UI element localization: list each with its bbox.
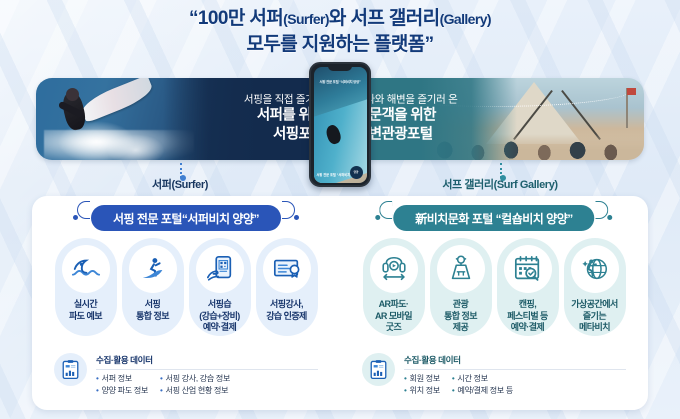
banner-surfer: 서핑을 직접 즐기는 서퍼를 위한 서핑포털 (36, 78, 338, 160)
data-item: 시간 정보 (452, 374, 513, 384)
panel-half-surfer: 서핑 전문 포털“서퍼비치 양양” 실시간 파도 예보 (32, 196, 340, 410)
pill-wrap-surfer: 서핑 전문 포털“서퍼비치 양양” (91, 205, 281, 231)
clipboard-chart-icon (362, 353, 395, 386)
data-column-2: 서핑 강사, 강습 정보 서핑 산업 현황 정보 (160, 374, 230, 396)
phone-notch (328, 65, 352, 71)
title-surfer-en: (Surfer) (283, 11, 329, 27)
data-column-2: 시간 정보 예약/결제 정보 등 (452, 374, 513, 396)
data-box-surfer: 수집·활용 데이터 서퍼 정보 양양 파도 정보 서핑 강사, 강습 정보 서핑… (54, 353, 318, 396)
wave-icon (62, 245, 110, 293)
feature-instructor-cert[interactable]: 서핑강사, 강습 인증제 (256, 238, 318, 336)
title-line-1: “100만 서퍼(Surfer)와 서프 갤러리(Gallery) (0, 6, 680, 32)
feature-camping-festival[interactable]: 캔핑, 페스티벌 등 예약·결제 (497, 238, 559, 336)
metaverse-icon (571, 245, 619, 293)
phone-badge: 양양 (350, 166, 363, 179)
clipboard-chart-icon (54, 353, 87, 386)
feature-label: 가상공간에서 즐기는 메타비치 (571, 299, 617, 334)
data-item: 양양 파도 정보 (96, 386, 148, 396)
title-part-a: “100만 서퍼 (189, 8, 283, 29)
bracket-dot-left (73, 215, 78, 220)
data-column-1: 서퍼 정보 양양 파도 정보 (96, 374, 148, 396)
data-item: 서핑 산업 현황 정보 (160, 386, 230, 396)
data-item: 예약/결제 정보 등 (452, 386, 513, 396)
surfer-head-shape (66, 88, 79, 101)
data-body: 수집·활용 데이터 회원 정보 위치 정보 시간 정보 예약/결제 정보 등 (404, 353, 626, 396)
feature-label: 캔핑, 페스티벌 등 예약·결제 (507, 299, 548, 334)
data-box-gallery: 수집·활용 데이터 회원 정보 위치 정보 시간 정보 예약/결제 정보 등 (362, 353, 626, 396)
bracket-left (77, 201, 90, 219)
group-caption-gallery: 서프 갤러리(Surf Gallery) (442, 176, 557, 192)
data-column-1: 회원 정보 위치 정보 (404, 374, 440, 396)
data-columns: 회원 정보 위치 정보 시간 정보 예약/결제 정보 등 (404, 374, 626, 396)
feature-label: 서핑 통합 정보 (136, 299, 169, 322)
surfer-icon (129, 245, 177, 293)
title-line-2: 모두를 지원하는 플랫폼” (0, 32, 680, 57)
bracket-dot-right (608, 215, 613, 220)
feature-capsules-surfer: 실시간 파도 예보 서핑 통합 정보 (32, 238, 340, 336)
data-item: 회원 정보 (404, 374, 440, 384)
feature-realtime-wave[interactable]: 실시간 파도 예보 (55, 238, 117, 336)
feature-capsules-gallery: AR파도· AR 모바일 굿즈 관광 통합 정보 제공 (340, 238, 648, 336)
content-panel: 서핑 전문 포털“서퍼비치 양양” 실시간 파도 예보 (32, 196, 648, 410)
data-title: 수집·활용 데이터 (404, 354, 626, 370)
ar-vr-headset-icon (370, 245, 418, 293)
page-title: “100만 서퍼(Surfer)와 서프 갤러리(Gallery) 모두를 지원… (0, 6, 680, 57)
phone-screen: 서핑 전문 포털 “서퍼비치 양양” 서핑 전문 포털 “서퍼비치 양양” 양양 (314, 67, 367, 183)
phone-mockup: 서핑 전문 포털 “서퍼비치 양양” 서핑 전문 포털 “서퍼비치 양양” 양양 (309, 62, 371, 187)
feature-label: 서핑습 (강습+장비) 예약·결제 (199, 299, 240, 334)
feature-surf-info[interactable]: 서핑 통합 정보 (122, 238, 184, 336)
banner-visitor-title-2: 해변관광포털 (356, 126, 457, 145)
flag-shape (627, 88, 636, 95)
pill-surf-portal[interactable]: 서핑 전문 포털“서퍼비치 양양” (91, 205, 281, 231)
surfboard-shape (79, 78, 156, 123)
pill-wrap-gallery: 新비치문화 포털 “컬숍비치 양양” (393, 205, 594, 231)
bracket-dot-left (375, 215, 380, 220)
data-body: 수집·활용 데이터 서퍼 정보 양양 파도 정보 서핑 강사, 강습 정보 서핑… (96, 353, 318, 396)
feature-ar-goods[interactable]: AR파도· AR 모바일 굿즈 (363, 238, 425, 336)
data-item: 위치 정보 (404, 386, 440, 396)
data-item: 서핑 강사, 강습 정보 (160, 374, 230, 384)
mobile-qr-icon (196, 245, 244, 293)
data-item: 서퍼 정보 (96, 374, 148, 384)
infographic-page: “100만 서퍼(Surfer)와 서프 갤러리(Gallery) 모두를 지원… (0, 0, 680, 419)
banner-visitor: 바다와 해변을 즐기러 온 방문객을 위한 해변관광포털 (342, 78, 644, 160)
phone-top-text: 서핑 전문 포털 “서퍼비치 양양” (314, 80, 367, 85)
feature-metaverse[interactable]: 가상공간에서 즐기는 메타비치 (564, 238, 626, 336)
feature-label: AR파도· AR 모바일 굿즈 (375, 299, 412, 334)
calendar-search-icon (504, 245, 552, 293)
bracket-left (379, 201, 392, 219)
group-caption-surfer: 서퍼(Surfer) (152, 176, 208, 192)
tour-map-icon (437, 245, 485, 293)
title-part-b: 와 서프 갤러리 (329, 8, 440, 29)
banner-visitor-text: 바다와 해변을 즐기러 온 방문객을 위한 해변관광포털 (356, 94, 457, 145)
feature-label: 관광 통합 정보 제공 (444, 299, 477, 334)
panel-half-gallery: 新비치문화 포털 “컬숍비치 양양” (340, 196, 648, 410)
certificate-icon (263, 245, 311, 293)
banner-visitor-title-1: 방문객을 위한 (356, 107, 457, 126)
feature-tour-info[interactable]: 관광 통합 정보 제공 (430, 238, 492, 336)
banner-visitor-subtitle: 바다와 해변을 즐기러 온 (356, 94, 457, 107)
data-columns: 서퍼 정보 양양 파도 정보 서핑 강사, 강습 정보 서핑 산업 현황 정보 (96, 374, 318, 396)
feature-lesson-booking[interactable]: 서핑습 (강습+장비) 예약·결제 (189, 238, 251, 336)
feature-label: 서핑강사, 강습 인증제 (266, 299, 307, 322)
bracket-dot-right (294, 215, 299, 220)
pill-culture-portal[interactable]: 新비치문화 포털 “컬숍비치 양양” (393, 205, 594, 231)
data-title: 수집·활용 데이터 (96, 354, 318, 370)
title-gallery-en: (Gallery) (440, 11, 491, 27)
feature-label: 실시간 파도 예보 (69, 299, 102, 322)
